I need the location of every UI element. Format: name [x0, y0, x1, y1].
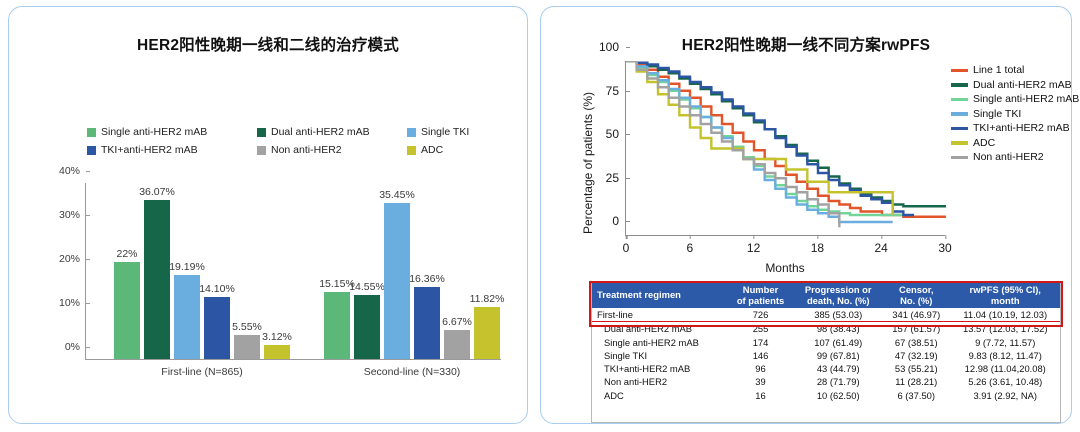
table-row: Dual anti-HER2 mAB25598 (38.43)157 (61.5… — [591, 322, 1061, 336]
bar-group-label: First-line (N=865) — [114, 366, 290, 378]
bar: 5.55% — [234, 335, 260, 359]
bar: 11.82% — [474, 307, 500, 359]
legend-swatch-icon — [257, 146, 266, 155]
table-column-header-line: death, No. (%) — [796, 296, 880, 307]
legend-line-icon — [951, 112, 968, 116]
km-curve-single-tki — [626, 61, 893, 222]
table-cell-regimen: First-line — [591, 308, 728, 322]
bar-value-label: 14.55% — [349, 281, 385, 293]
bar: 6.67% — [444, 330, 470, 359]
legend-swatch-icon — [407, 128, 416, 137]
km-y-tick-label: 25 — [606, 171, 626, 185]
bar-chart-plot: 0%10%20%30%40%22%36.07%19.19%14.10%5.55%… — [39, 175, 509, 390]
table-column-header-line: Treatment regimen — [597, 290, 725, 301]
legend-swatch-icon — [257, 128, 266, 137]
table-column-header-line: of patients — [731, 296, 791, 307]
table-cell-censor: 341 (46.97) — [883, 308, 949, 322]
table-cell-progression: 385 (53.03) — [793, 308, 883, 322]
km-curve-chart: Percentage of patients (%) 0255075100061… — [547, 55, 1067, 270]
bar: 35.45% — [384, 203, 410, 359]
km-x-tick-label: 24 — [875, 241, 888, 255]
table-cell-rwpfs: 3.91 (2.92, NA) — [949, 389, 1061, 402]
table-cell-censor: 157 (61.57) — [883, 322, 949, 336]
legend-line-icon — [951, 83, 968, 87]
table-cell-progression: 10 (62.50) — [793, 389, 883, 402]
table-cell-rwpfs: 5.26 (3.61, 10.48) — [949, 375, 1061, 388]
legend-swatch-icon — [87, 146, 96, 155]
bar-value-label: 6.67% — [442, 316, 472, 328]
legend-line-icon — [951, 127, 968, 131]
bar-chart-legend: Single anti-HER2 mABDual anti-HER2 mABSi… — [87, 123, 507, 159]
table-column-header: Numberof patients — [728, 283, 794, 308]
bar-value-label: 5.55% — [232, 321, 262, 333]
bar-group: 15.15%14.55%35.45%16.36%6.67%11.82%Secon… — [324, 183, 519, 359]
bar-legend-item: TKI+anti-HER2 mAB — [87, 144, 257, 156]
bar-legend-label: Non anti-HER2 — [271, 144, 342, 156]
km-legend-item: TKI+anti-HER2 mAB — [951, 121, 1080, 136]
table-body: First-line726385 (53.03)341 (46.97)11.04… — [591, 308, 1061, 402]
legend-swatch-icon — [87, 128, 96, 137]
bar: 36.07% — [144, 200, 170, 359]
km-y-tick-label: 0 — [612, 214, 626, 228]
table-header: Treatment regimenNumberof patientsProgre… — [591, 283, 1061, 308]
table-cell-rwpfs: 11.04 (10.19, 12.03) — [949, 308, 1061, 322]
km-x-axis-label: Months — [625, 261, 945, 275]
table-cell-number-of-patients: 39 — [728, 375, 794, 388]
table-cell-regimen: Single anti-HER2 mAB — [591, 336, 728, 349]
table-column-header: Treatment regimen — [591, 283, 728, 308]
table-cell-number-of-patients: 96 — [728, 362, 794, 375]
table-cell-number-of-patients: 146 — [728, 349, 794, 362]
bar-y-tick-label: 20% — [59, 253, 86, 265]
bar-chart-axes: 0%10%20%30%40%22%36.07%19.19%14.10%5.55%… — [85, 183, 501, 360]
table-column-header-line: Censor, — [886, 285, 946, 296]
legend-swatch-icon — [407, 146, 416, 155]
table-row: Single anti-HER2 mAB174107 (61.49)67 (38… — [591, 336, 1061, 349]
km-y-tick-label: 75 — [606, 84, 626, 98]
table-header-row: Treatment regimenNumberof patientsProgre… — [591, 283, 1061, 308]
table-cell-regimen: Single TKI — [591, 349, 728, 362]
legend-line-icon — [951, 69, 968, 73]
table-cell-regimen: Dual anti-HER2 mAB — [591, 322, 728, 336]
table-cell-censor: 11 (28.21) — [883, 375, 949, 388]
km-x-tick-label: 18 — [811, 241, 824, 255]
table-cell-progression: 43 (44.79) — [793, 362, 883, 375]
km-x-tick-label: 30 — [938, 241, 951, 255]
bar-value-label: 14.10% — [199, 283, 235, 295]
table-cell-censor: 6 (37.50) — [883, 389, 949, 402]
bar: 14.10% — [204, 297, 230, 359]
table-cell-rwpfs: 9 (7.72, 11.57) — [949, 336, 1061, 349]
km-x-tick-label: 0 — [623, 241, 630, 255]
bar-value-label: 36.07% — [139, 186, 175, 198]
table-column-header: rwPFS (95% CI),month — [949, 283, 1061, 308]
bar-legend-item: Non anti-HER2 — [257, 144, 407, 156]
km-legend-item: Single TKI — [951, 107, 1080, 122]
bar-value-label: 11.82% — [470, 293, 505, 305]
legend-line-icon — [951, 98, 968, 102]
table-cell-censor: 67 (38.51) — [883, 336, 949, 349]
table-column-header-line: rwPFS (95% CI), — [952, 285, 1058, 296]
bar: 15.15% — [324, 292, 350, 359]
results-table: Treatment regimenNumberof patientsProgre… — [591, 283, 1061, 402]
bar-legend-item: Single TKI — [407, 126, 507, 138]
table-column-header: Censor,No. (%) — [883, 283, 949, 308]
table-column-header-line: No. (%) — [886, 296, 946, 307]
left-chart-panel: HER2阳性晚期一线和二线的治疗模式 Single anti-HER2 mABD… — [8, 6, 528, 424]
table-cell-regimen: TKI+anti-HER2 mAB — [591, 362, 728, 375]
legend-line-icon — [951, 141, 968, 145]
table-cell-censor: 47 (32.19) — [883, 349, 949, 362]
km-legend-label: Single TKI — [973, 108, 1021, 120]
km-legend-item: Dual anti-HER2 mAB — [951, 78, 1080, 93]
left-chart-title: HER2阳性晚期一线和二线的治疗模式 — [9, 33, 527, 55]
bar-legend-item: Dual anti-HER2 mAB — [257, 126, 407, 138]
bar-y-tick-label: 40% — [59, 165, 86, 177]
table-cell-progression: 28 (71.79) — [793, 375, 883, 388]
table-cell-progression: 98 (38.43) — [793, 322, 883, 336]
table-column-header-line: month — [952, 296, 1058, 307]
table-cell-number-of-patients: 255 — [728, 322, 794, 336]
table-cell-censor: 53 (55.21) — [883, 362, 949, 375]
bar-value-label: 22% — [116, 248, 137, 260]
bar: 19.19% — [174, 275, 200, 359]
bar-legend-item: ADC — [407, 144, 507, 156]
bar-legend-label: Single TKI — [421, 126, 469, 138]
km-legend-label: ADC — [973, 137, 995, 149]
table-row: Non anti-HER23928 (71.79)11 (28.21)5.26 … — [591, 375, 1061, 388]
km-plot-area: 02550751000612182430 — [625, 61, 945, 236]
km-curves — [626, 61, 946, 236]
bar-legend-label: Dual anti-HER2 mAB — [271, 126, 370, 138]
table-cell-regimen: Non anti-HER2 — [591, 375, 728, 388]
bar-group-label: Second-line (N=330) — [324, 366, 500, 378]
bar: 14.55% — [354, 295, 380, 359]
legend-line-icon — [951, 156, 968, 160]
bar: 16.36% — [414, 287, 440, 359]
bar-value-label: 16.36% — [409, 273, 445, 285]
bar: 3.12% — [264, 345, 290, 359]
km-x-tick-label: 6 — [686, 241, 693, 255]
bar-legend-label: ADC — [421, 144, 443, 156]
km-legend-label: Single anti-HER2 mAB — [973, 93, 1079, 105]
bar: 22% — [114, 262, 140, 359]
bar-y-tick-label: 0% — [65, 341, 86, 353]
bar-y-tick-label: 30% — [59, 209, 86, 221]
table-row: First-line726385 (53.03)341 (46.97)11.04… — [591, 308, 1061, 322]
km-legend-label: Non anti-HER2 — [973, 151, 1044, 163]
table-cell-number-of-patients: 174 — [728, 336, 794, 349]
km-legend-item: Non anti-HER2 — [951, 150, 1080, 165]
table-cell-rwpfs: 9.83 (8.12, 11.47) — [949, 349, 1061, 362]
right-chart-panel: HER2阳性晚期一线不同方案rwPFS Percentage of patien… — [540, 6, 1072, 424]
table-cell-regimen: ADC — [591, 389, 728, 402]
km-y-tick-label: 100 — [599, 40, 626, 54]
table-column-header: Progression ordeath, No. (%) — [793, 283, 883, 308]
km-y-tick-label: 50 — [606, 127, 626, 141]
bar-y-tick-label: 10% — [59, 297, 86, 309]
bar-group: 22%36.07%19.19%14.10%5.55%3.12%First-lin… — [114, 183, 309, 359]
table-cell-progression: 99 (67.81) — [793, 349, 883, 362]
table-column-header-line: Number — [731, 285, 791, 296]
bar-value-label: 35.45% — [379, 189, 415, 201]
bar-legend-item: Single anti-HER2 mAB — [87, 126, 257, 138]
km-legend-label: Dual anti-HER2 mAB — [973, 79, 1072, 91]
bar-legend-label: TKI+anti-HER2 mAB — [101, 144, 198, 156]
table-column-header-line: Progression or — [796, 285, 880, 296]
bar-value-label: 3.12% — [262, 331, 292, 343]
table-row: Single TKI14699 (67.81)47 (32.19)9.83 (8… — [591, 349, 1061, 362]
table-cell-number-of-patients: 726 — [728, 308, 794, 322]
table-cell-rwpfs: 13.57 (12.03, 17.52) — [949, 322, 1061, 336]
table-row: ADC1610 (62.50)6 (37.50)3.91 (2.92, NA) — [591, 389, 1061, 402]
table-cell-number-of-patients: 16 — [728, 389, 794, 402]
km-legend-item: Line 1 total — [951, 63, 1080, 78]
km-legend-item: ADC — [951, 136, 1080, 151]
km-legend: Line 1 totalDual anti-HER2 mABSingle ant… — [951, 63, 1080, 165]
table-row: TKI+anti-HER2 mAB9643 (44.79)53 (55.21)1… — [591, 362, 1061, 375]
km-legend-item: Single anti-HER2 mAB — [951, 92, 1080, 107]
bar-legend-label: Single anti-HER2 mAB — [101, 126, 207, 138]
bar-value-label: 19.19% — [169, 261, 205, 273]
km-curve-adc — [626, 61, 893, 215]
slide-root: HER2阳性晚期一线和二线的治疗模式 Single anti-HER2 mABD… — [0, 0, 1080, 432]
km-legend-label: Line 1 total — [973, 64, 1024, 76]
km-legend-label: TKI+anti-HER2 mAB — [973, 122, 1070, 134]
table-cell-progression: 107 (61.49) — [793, 336, 883, 349]
km-y-axis-label: Percentage of patients (%) — [581, 78, 595, 248]
table-cell-rwpfs: 12.98 (11.04,20.08) — [949, 362, 1061, 375]
km-x-tick-label: 12 — [747, 241, 760, 255]
